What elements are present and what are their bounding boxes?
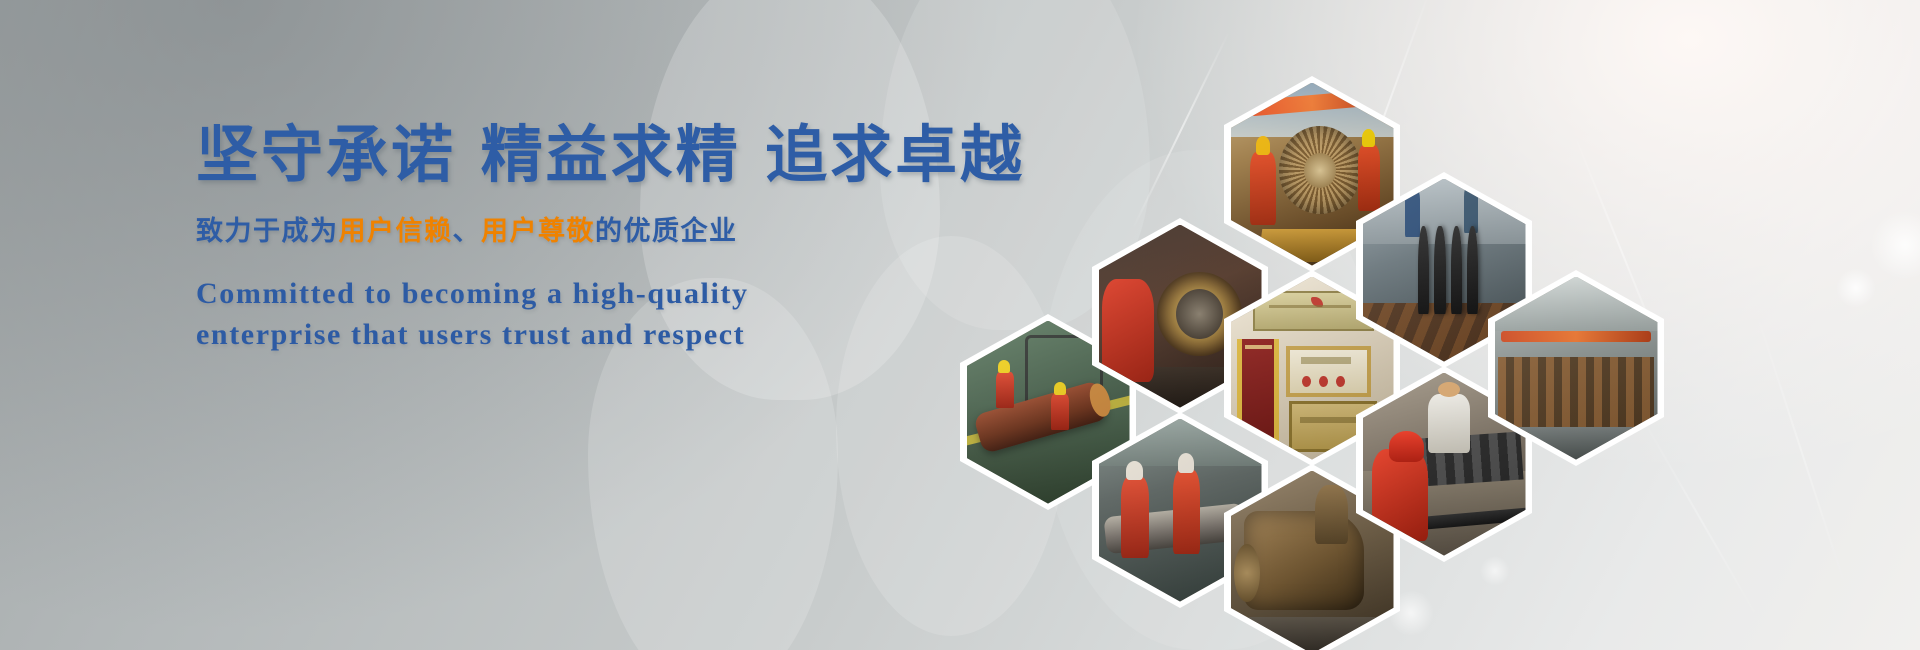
hexagon-photo-gallery	[960, 40, 1660, 560]
subtitle-highlight-1: 用户信赖	[339, 216, 453, 247]
banner-text-block: 坚守承诺 精益求精 追求卓越 致力于成为用户信赖、用户尊敬的优质企业 Commi…	[196, 120, 956, 355]
banner-english-tagline: Committed to becoming a high-quality ent…	[196, 274, 956, 354]
subtitle-separator: 、	[453, 216, 482, 247]
subtitle-highlight-2: 用户尊敬	[481, 216, 595, 247]
tile-workshop-wide	[1495, 277, 1658, 460]
english-line-1: Committed to becoming a high-quality	[196, 274, 956, 314]
english-line-2: enterprise that users trust and respect	[196, 315, 956, 355]
banner-subtitle: 致力于成为用户信赖、用户尊敬的优质企业	[196, 209, 956, 248]
background-glow	[1480, 556, 1510, 586]
background-light-streak	[1754, 307, 1848, 593]
background-glow	[1836, 268, 1876, 308]
banner-headline: 坚守承诺 精益求精 追求卓越	[196, 120, 956, 189]
background-glow	[1870, 210, 1920, 280]
subtitle-part-2: 的优质企业	[595, 216, 738, 247]
promo-banner: 坚守承诺 精益求精 追求卓越 致力于成为用户信赖、用户尊敬的优质企业 Commi…	[0, 0, 1920, 650]
subtitle-part-1: 致力于成为	[196, 216, 339, 247]
